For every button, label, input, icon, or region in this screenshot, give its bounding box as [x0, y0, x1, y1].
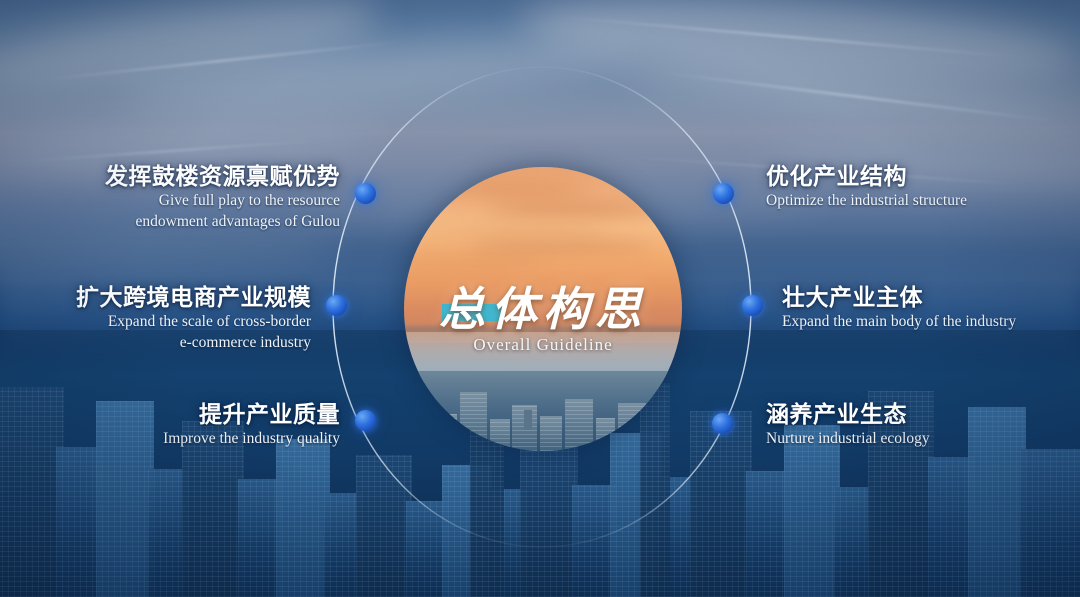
label-subtitle-en-line1: Optimize the industrial structure — [766, 190, 1076, 211]
label-subtitle-en-line1: Expand the scale of cross-border — [0, 311, 311, 332]
cloud-shape — [487, 202, 659, 216]
building — [490, 419, 509, 451]
inner-cityscape — [404, 371, 682, 451]
building — [520, 447, 578, 597]
node-dot-right-2[interactable] — [742, 295, 763, 316]
center-circle-image — [404, 167, 682, 451]
building — [356, 455, 412, 597]
label-right-3[interactable]: 涵养产业生态 Nurture industrial ecology — [766, 400, 1076, 449]
sunset-sky — [404, 167, 682, 343]
label-title-zh: 优化产业结构 — [766, 162, 1076, 190]
label-right-2[interactable]: 壮大产业主体 Expand the main body of the indus… — [782, 283, 1080, 332]
building — [437, 414, 456, 451]
building — [276, 439, 330, 597]
building — [649, 413, 674, 451]
label-subtitle-en-line1: Expand the main body of the industry — [782, 311, 1080, 332]
label-title-zh: 扩大跨境电商产业规模 — [0, 283, 311, 311]
cloud-shape — [421, 181, 588, 197]
cloud-shape — [404, 255, 546, 266]
label-left-1[interactable]: 发挥鼓楼资源禀赋优势 Give full play to the resourc… — [20, 162, 340, 232]
building — [596, 418, 615, 451]
label-left-3[interactable]: 提升产业质量 Improve the industry quality — [20, 400, 340, 449]
label-subtitle-en-line1: Give full play to the resource — [20, 190, 340, 211]
building — [618, 403, 646, 451]
building — [460, 392, 488, 451]
slide-canvas: 总体构思 Overall Guideline 发挥鼓楼资源禀赋优势 Give f… — [0, 0, 1080, 597]
label-title-zh: 壮大产业主体 — [782, 283, 1080, 311]
node-dot-left-2[interactable] — [326, 295, 347, 316]
building — [1020, 449, 1080, 597]
building — [784, 425, 840, 597]
node-dot-right-3[interactable] — [712, 413, 733, 434]
label-title-zh: 发挥鼓楼资源禀赋优势 — [20, 162, 340, 190]
node-dot-left-1[interactable] — [355, 183, 376, 204]
building — [410, 402, 435, 451]
node-dot-left-3[interactable] — [355, 410, 376, 431]
label-subtitle-en-line2: e-commerce industry — [0, 332, 311, 353]
label-right-1[interactable]: 优化产业结构 Optimize the industrial structure — [766, 162, 1076, 211]
cloud-shape — [471, 241, 654, 253]
node-dot-right-1[interactable] — [713, 183, 734, 204]
building — [690, 411, 752, 597]
label-subtitle-en-line2: endowment advantages of Gulou — [20, 211, 340, 232]
label-left-2[interactable]: 扩大跨境电商产业规模 Expand the scale of cross-bor… — [0, 283, 311, 353]
label-subtitle-en-line1: Nurture industrial ecology — [766, 428, 1076, 449]
building — [540, 416, 562, 451]
tower — [524, 410, 532, 431]
label-title-zh: 提升产业质量 — [20, 400, 340, 428]
building — [565, 399, 593, 451]
cloud-shape — [410, 223, 605, 235]
label-subtitle-en-line1: Improve the industry quality — [20, 428, 340, 449]
label-title-zh: 涵养产业生态 — [766, 400, 1076, 428]
